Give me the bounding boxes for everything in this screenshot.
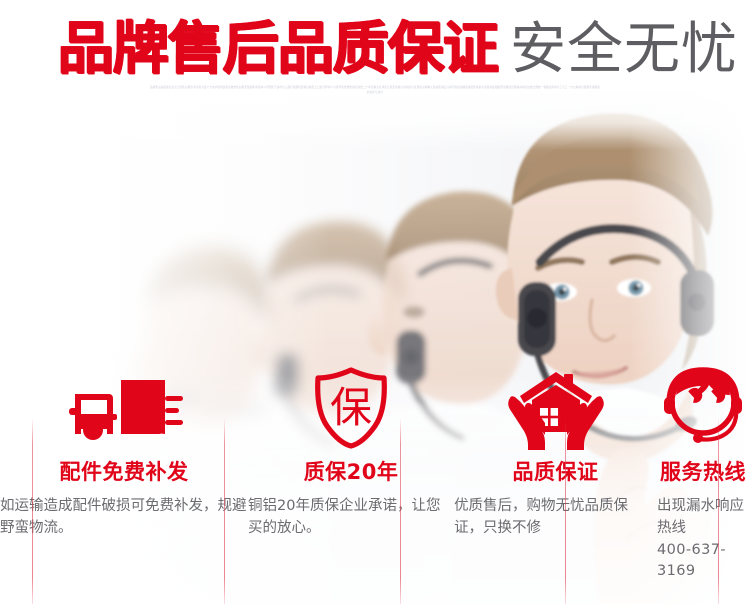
feature-card-title: 品质保证: [454, 462, 657, 483]
shield-warranty-icon: 保: [248, 364, 454, 450]
headline-microcopy: 品牌售后品质保证安全无忧售后服务承诺书为给广大用户提供优质高效的售后服务现郑重承…: [150, 86, 600, 96]
feature-card-title: 配件免费补发: [0, 462, 248, 483]
hands-holding-house-icon: [454, 364, 657, 450]
feature-card-warranty[interactable]: 保 质保20年 铜铝20年质保企业承诺，让您买的放心。: [248, 360, 454, 604]
feature-card-title: 服务热线: [657, 462, 749, 483]
feature-card-body: 铜铝20年质保企业承诺，让您买的放心。: [248, 496, 454, 540]
feature-card-free-parts[interactable]: 配件免费补发 如运输造成配件破损可免费补发，规避野蛮物流。: [0, 360, 248, 604]
feature-strip: 配件免费补发 如运输造成配件破损可免费补发，规避野蛮物流。 保 质保20年 铜铝…: [0, 360, 749, 604]
hotline-phone-number[interactable]: 400-637-3169: [657, 540, 749, 584]
headline: 品牌售后品质保证 安全无忧: [58, 22, 738, 78]
feature-card-quality[interactable]: 品质保证 优质售后，购物无忧品质保证，只换不修: [454, 360, 657, 604]
headset-operator-icon: [657, 364, 749, 450]
feature-card-body: 如运输造成配件破损可免费补发，规避野蛮物流。: [0, 496, 248, 540]
feature-card-body: 优质售后，购物无忧品质保证，只换不修: [454, 496, 657, 540]
delivery-truck-icon: [0, 364, 248, 450]
headline-primary-text: 品牌售后品质保证: [58, 22, 498, 78]
promo-banner: 品牌售后品质保证 安全无忧 品牌售后品质保证安全无忧售后服务承诺书为给广大用户提…: [0, 0, 749, 604]
headline-secondary-text: 安全无忧: [510, 22, 738, 78]
feature-card-hotline[interactable]: 服务热线 出现漏水响应热线 400-637-3169: [657, 360, 749, 604]
feature-card-title: 质保20年: [248, 462, 454, 483]
svg-text:保: 保: [330, 383, 372, 432]
hotline-description: 出现漏水响应热线: [657, 496, 749, 540]
feature-card-body: 出现漏水响应热线 400-637-3169: [657, 496, 749, 583]
